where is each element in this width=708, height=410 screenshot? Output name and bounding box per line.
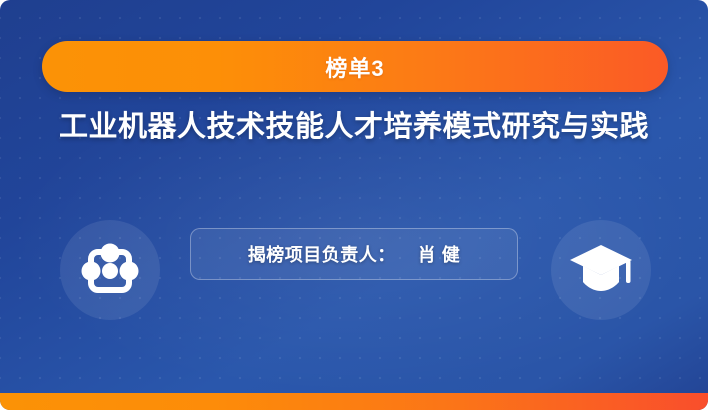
project-leader-text: 揭榜项目负责人： 肖 健 xyxy=(248,241,461,267)
graduation-cap-icon xyxy=(568,241,634,299)
robot-icon-container xyxy=(60,220,160,320)
rank-badge-label: 榜单3 xyxy=(325,51,384,83)
graduation-icon-container xyxy=(551,220,651,320)
rank-badge: 榜单3 xyxy=(42,41,668,92)
announcement-card: 榜单3 工业机器人技术技能人才培养模式研究与实践 xyxy=(0,0,708,410)
bottom-accent-bar xyxy=(0,393,708,410)
robot-head-icon xyxy=(79,239,141,301)
page-title: 工业机器人技术技能人才培养模式研究与实践 xyxy=(0,103,708,145)
project-leader-box: 揭榜项目负责人： 肖 健 xyxy=(190,228,518,280)
